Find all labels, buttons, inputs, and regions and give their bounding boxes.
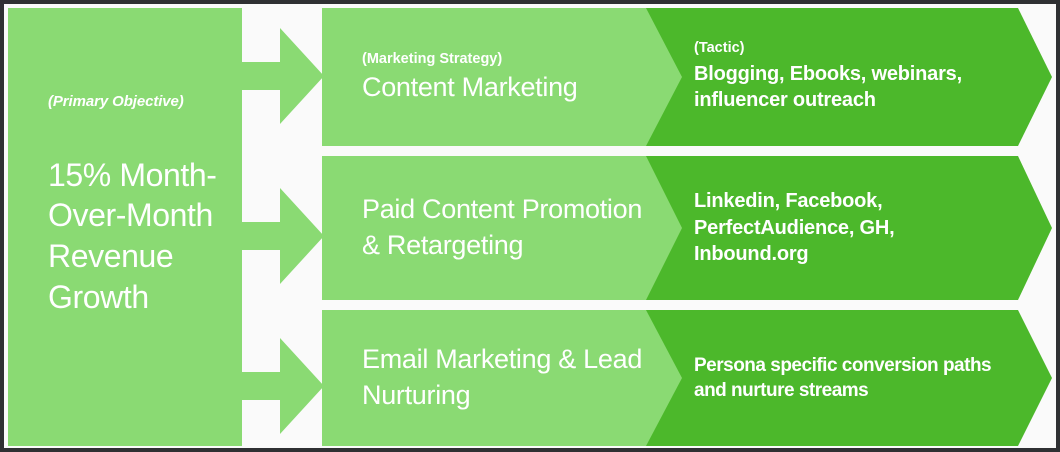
tactic-text: Blogging, Ebooks, webinars, influencer o…	[694, 61, 1004, 114]
arrow-to-row-3-icon	[242, 336, 324, 436]
tactic-content: (Tactic) Blogging, Ebooks, webinars, inf…	[694, 8, 1004, 146]
tactic-content: Linkedin, Facebook, PerfectAudience, GH,…	[694, 156, 1004, 300]
tactic-content: Persona specific conversion paths and nu…	[694, 310, 1004, 446]
strategy-title: Content Marketing	[362, 71, 652, 103]
strategy-row: (Marketing Strategy) Content Marketing (…	[322, 8, 1052, 146]
strategy-title: Email Marketing & Lead Nurturing	[362, 342, 652, 413]
diagram-canvas: (Primary Objective) 15% Month-Over-Month…	[0, 0, 1060, 452]
strategy-row: Email Marketing & Lead Nurturing Persona…	[322, 310, 1052, 446]
strategy-content: Email Marketing & Lead Nurturing	[362, 310, 652, 446]
primary-objective-title: 15% Month-Over-Month Revenue Growth	[48, 155, 238, 319]
strategy-content: (Marketing Strategy) Content Marketing	[362, 8, 652, 146]
tactic-text: Linkedin, Facebook, PerfectAudience, GH,…	[694, 188, 1004, 268]
arrow-to-row-2-icon	[242, 186, 324, 286]
primary-objective-panel: (Primary Objective) 15% Month-Over-Month…	[8, 8, 242, 446]
primary-objective-kicker: (Primary Objective)	[48, 94, 242, 111]
strategy-content: Paid Content Promotion & Retargeting	[362, 156, 652, 300]
arrow-to-row-1-icon	[242, 26, 324, 126]
tactic-kicker: (Tactic)	[694, 40, 1004, 57]
strategy-row: Paid Content Promotion & Retargeting Lin…	[322, 156, 1052, 300]
strategy-title: Paid Content Promotion & Retargeting	[362, 192, 652, 264]
tactic-text: Persona specific conversion paths and nu…	[694, 353, 1004, 404]
strategy-kicker: (Marketing Strategy)	[362, 51, 652, 68]
